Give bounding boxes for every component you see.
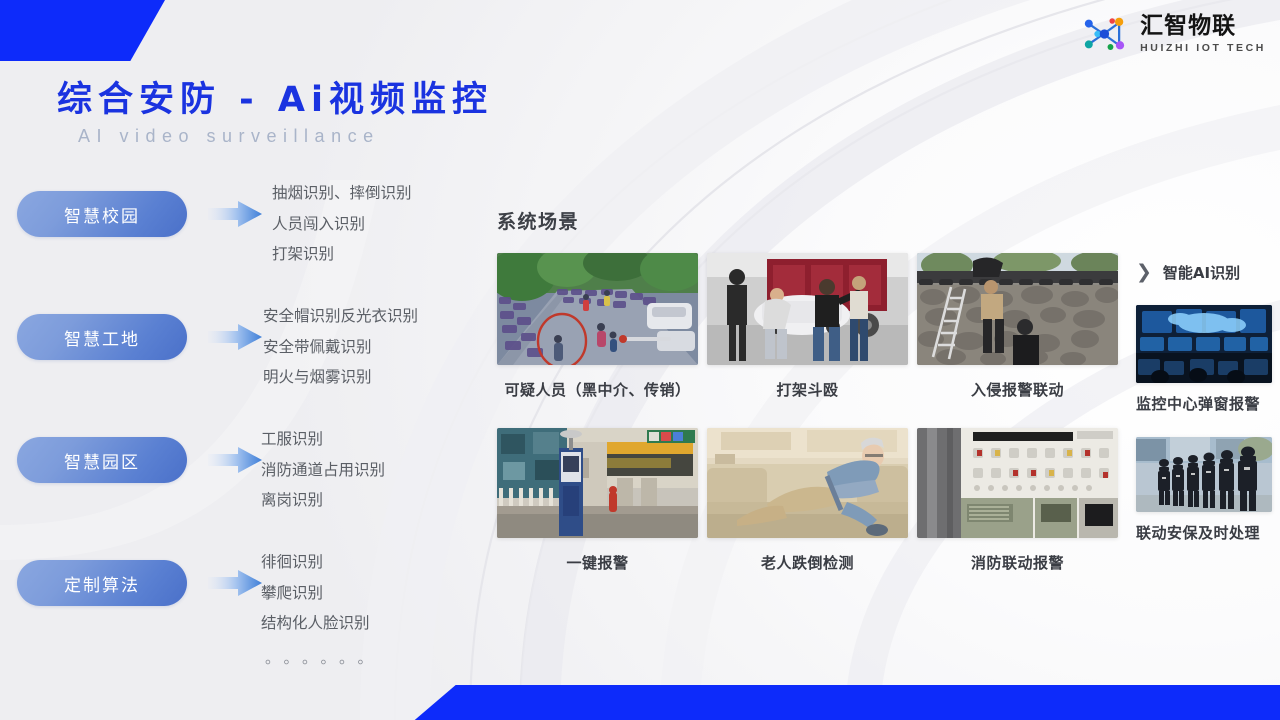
- scene-caption: 老人跌倒检测: [761, 552, 854, 573]
- category-pill-custom-algorithm[interactable]: 定制算法: [17, 560, 187, 606]
- control-room-photo: [1136, 305, 1272, 383]
- category-row-smart-site: 智慧工地 安全帽识别反光衣识别 安全带佩戴识别 明火与烟雾识别: [0, 309, 470, 432]
- brand-logo: 汇智物联 HUIZHI IOT TECH: [1081, 12, 1266, 56]
- category-row-smart-park: 智慧园区 工服识别 消防通道占用识别 离岗识别: [0, 432, 470, 555]
- page-subtitle: AI video surveillance: [78, 126, 380, 147]
- category-item: 人员闯入识别: [272, 217, 482, 233]
- category-item: 明火与烟雾识别: [263, 370, 473, 386]
- street-alarm-pillar-photo: [497, 428, 698, 538]
- arrow-right-icon: [208, 570, 262, 596]
- ai-recognition-label: ❯ 智能AI识别: [1136, 262, 1240, 283]
- scene-caption: 打架斗殴: [776, 379, 838, 400]
- logo-company-name-en: HUIZHI IOT TECH: [1140, 43, 1266, 54]
- scene-card-fire-alarm-linkage[interactable]: 消防联动报警: [917, 428, 1118, 538]
- scene-card-suspicious-person[interactable]: 可疑人员（黑中介、传销）: [497, 253, 698, 365]
- arrow-right-icon: [208, 447, 262, 473]
- wall-climbing-intrusion-photo: [917, 253, 1118, 365]
- bottom-blue-band: [0, 685, 1280, 720]
- ai-card-security-guards[interactable]: 联动安保及时处理: [1136, 437, 1272, 512]
- scene-caption: 入侵报警联动: [971, 379, 1064, 400]
- category-item: 安全帽识别反光衣识别: [263, 309, 473, 325]
- category-list: 智慧校园 抽烟识别、摔倒识别 人员闯入识别 打架识别 智慧工地 安全帽识别反光衣…: [0, 186, 470, 678]
- page-title: 综合安防 - Ai视频监控: [57, 71, 493, 122]
- category-item: 打架识别: [272, 247, 482, 263]
- arrow-right-icon: [208, 201, 262, 227]
- category-item: 攀爬识别: [261, 586, 471, 602]
- category-pill-smart-campus[interactable]: 智慧校园: [17, 191, 187, 237]
- category-item: 工服识别: [261, 432, 471, 448]
- category-row-smart-campus: 智慧校园 抽烟识别、摔倒识别 人员闯入识别 打架识别: [0, 186, 470, 309]
- arrow-right-icon: [208, 324, 262, 350]
- scene-card-elderly-fall[interactable]: 老人跌倒检测: [707, 428, 908, 538]
- category-row-custom-algorithm: 定制算法 徘徊识别 攀爬识别 结构化人脸识别 。。。。。。: [0, 555, 470, 678]
- category-item: 徘徊识别: [261, 555, 471, 571]
- street-crowd-surveillance-photo: [497, 253, 698, 365]
- category-items-smart-site: 安全帽识别反光衣识别 安全带佩戴识别 明火与烟雾识别: [263, 309, 473, 401]
- chevron-right-icon: ❯: [1136, 263, 1152, 282]
- corner-accent-top-left: [0, 0, 165, 61]
- scene-card-intrusion-alarm[interactable]: 入侵报警联动: [917, 253, 1118, 365]
- category-pill-smart-park[interactable]: 智慧园区: [17, 437, 187, 483]
- elderly-fall-photo: [707, 428, 908, 538]
- fire-control-panel-photo: [917, 428, 1118, 538]
- category-item: 消防通道占用识别: [261, 463, 471, 479]
- category-pill-smart-site[interactable]: 智慧工地: [17, 314, 187, 360]
- category-items-smart-park: 工服识别 消防通道占用识别 离岗识别: [261, 432, 471, 524]
- street-fight-photo: [707, 253, 908, 365]
- security-guards-photo: [1136, 437, 1272, 512]
- category-more-dots: 。。。。。。: [261, 647, 471, 668]
- ai-recognition-text: 智能AI识别: [1163, 262, 1240, 283]
- slide-root: 汇智物联 HUIZHI IOT TECH 综合安防 - Ai视频监控 AI vi…: [0, 0, 1280, 720]
- scene-card-fighting[interactable]: 打架斗殴: [707, 253, 908, 365]
- scenes-heading: 系统场景: [497, 207, 579, 234]
- scene-caption: 消防联动报警: [971, 552, 1064, 573]
- scene-caption: 可疑人员（黑中介、传销）: [504, 379, 690, 400]
- category-items-custom-algorithm: 徘徊识别 攀爬识别 结构化人脸识别 。。。。。。: [261, 555, 471, 668]
- scene-card-one-key-alarm[interactable]: 一键报警: [497, 428, 698, 538]
- ai-card-caption: 联动安保及时处理: [1136, 522, 1260, 543]
- category-item: 结构化人脸识别: [261, 616, 471, 632]
- category-item: 安全带佩戴识别: [263, 340, 473, 356]
- category-items-smart-campus: 抽烟识别、摔倒识别 人员闯入识别 打架识别: [272, 186, 482, 278]
- category-item: 抽烟识别、摔倒识别: [272, 186, 482, 202]
- logo-company-name-cn: 汇智物联: [1140, 15, 1266, 38]
- category-item: 离岗识别: [261, 493, 471, 509]
- ai-card-control-room[interactable]: 监控中心弹窗报警: [1136, 305, 1272, 383]
- scene-caption: 一键报警: [566, 552, 628, 573]
- ai-card-caption: 监控中心弹窗报警: [1136, 393, 1260, 414]
- molecule-network-icon: [1081, 12, 1133, 56]
